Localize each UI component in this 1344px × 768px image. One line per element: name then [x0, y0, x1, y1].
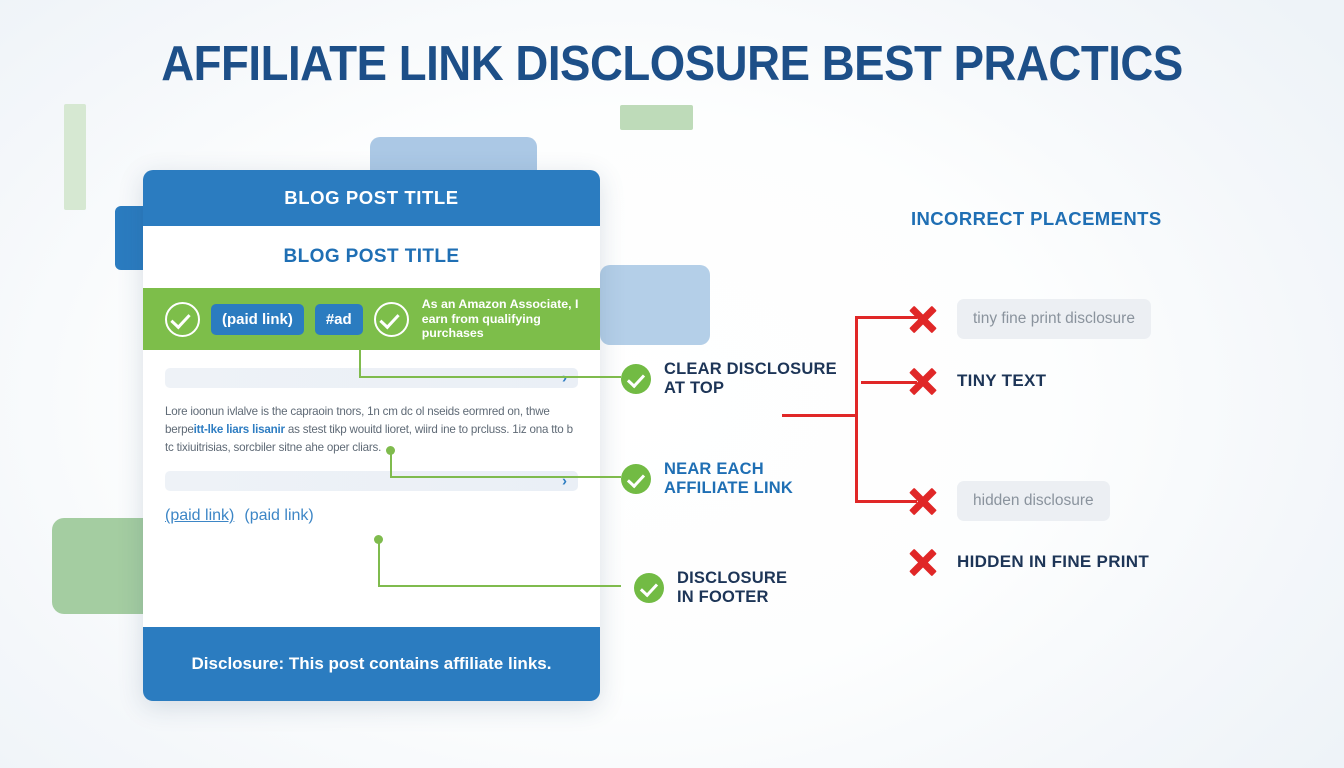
check-circle-filled-icon [621, 364, 651, 394]
lorem-line-1: Lore ioonun ivlalve is the capraoin tnor… [165, 405, 460, 418]
check-circle-filled-icon [621, 464, 651, 494]
top-disclosure-strip: (paid link) #ad As an Amazon Associate, … [143, 288, 600, 350]
page-title: AFFILIATE LINK DISCLOSURE BEST PRACTICS [47, 36, 1297, 92]
inline-affiliate-link-1[interactable]: itt-lke liars [194, 423, 249, 436]
check-circle-filled-icon [634, 573, 664, 603]
incorrect-item-tiny-text: TINY TEXT [905, 363, 1046, 399]
good-practice-label: NEAR EACH AFFILIATE LINK [664, 460, 793, 498]
content-placeholder-bar[interactable]: › [165, 368, 578, 388]
incorrect-pill-label: hidden disclosure [957, 481, 1110, 521]
incorrect-label: HIDDEN IN FINE PRINT [957, 552, 1149, 572]
chip-ad-hashtag[interactable]: #ad [315, 304, 363, 335]
incorrect-item-tiny-fine-print-disclosure: tiny fine print disclosure [905, 299, 1151, 339]
good-practice-item-near-each-affiliate-link: NEAR EACH AFFILIATE LINK [621, 460, 793, 498]
paid-link-plain[interactable]: (paid link) [244, 507, 313, 525]
deco-green-bar-top [620, 105, 693, 130]
x-mark-icon [905, 363, 941, 399]
check-circle-outline-icon [165, 302, 200, 337]
deco-green-bar-left [64, 104, 86, 210]
card-header-title: BLOG POST TITLE [143, 170, 600, 226]
paid-links-row: (paid link) (paid link) [165, 507, 578, 525]
body-paragraph: Lore ioonun ivlalve is the capraoin tnor… [165, 403, 578, 457]
paid-link-underlined[interactable]: (paid link) [165, 507, 234, 525]
deco-blue-accent-strip [115, 206, 145, 270]
incorrect-label: TINY TEXT [957, 371, 1046, 391]
footer-disclosure-bar: Disclosure: This post contains affiliate… [143, 627, 600, 701]
good-practice-label: DISCLOSURE IN FOOTER [677, 569, 787, 607]
good-practice-item-clear-disclosure-at-top: CLEAR DISCLOSURE AT TOP [621, 360, 837, 398]
chevron-right-icon: › [562, 371, 567, 386]
check-circle-outline-icon [374, 302, 409, 337]
connector-line-footer [378, 585, 621, 587]
incorrect-item-hidden-in-fine-print: HIDDEN IN FINE PRINT [905, 544, 1149, 580]
infographic-canvas: AFFILIATE LINK DISCLOSURE BEST PRACTICS … [0, 0, 1344, 768]
content-placeholder-bar[interactable]: › [165, 471, 578, 491]
amazon-associate-note: As an Amazon Associate, I earn from qual… [422, 297, 590, 341]
connector-line-middle [390, 452, 392, 478]
incorrect-item-hidden-disclosure: hidden disclosure [905, 481, 1110, 521]
lorem-line-4: sitne ahe oper cliars. [279, 441, 382, 454]
incorrect-placements-title: INCORRECT PLACEMENTS [911, 208, 1162, 230]
x-mark-icon [905, 483, 941, 519]
good-practice-label: CLEAR DISCLOSURE AT TOP [664, 360, 837, 398]
lorem-line-2-post: as stest tikp wouitd [288, 423, 382, 436]
connector-line-top [359, 350, 361, 378]
blog-post-card: BLOG POST TITLE BLOG POST TITLE (paid li… [143, 170, 600, 701]
incorrect-pill-label: tiny fine print disclosure [957, 299, 1151, 339]
red-bracket-tail [782, 414, 857, 417]
connector-line-footer [378, 541, 380, 587]
x-mark-icon [905, 544, 941, 580]
red-bracket-spine [855, 316, 858, 503]
card-post-title: BLOG POST TITLE [143, 226, 600, 288]
chip-paid-link[interactable]: (paid link) [211, 304, 304, 335]
good-practice-item-disclosure-in-footer: DISCLOSURE IN FOOTER [634, 569, 787, 607]
connector-line-top [359, 376, 621, 378]
connector-line-middle [390, 476, 621, 478]
inline-affiliate-link-2[interactable]: lisanir [252, 423, 285, 436]
x-mark-icon [905, 301, 941, 337]
deco-blue-rect [600, 265, 710, 345]
